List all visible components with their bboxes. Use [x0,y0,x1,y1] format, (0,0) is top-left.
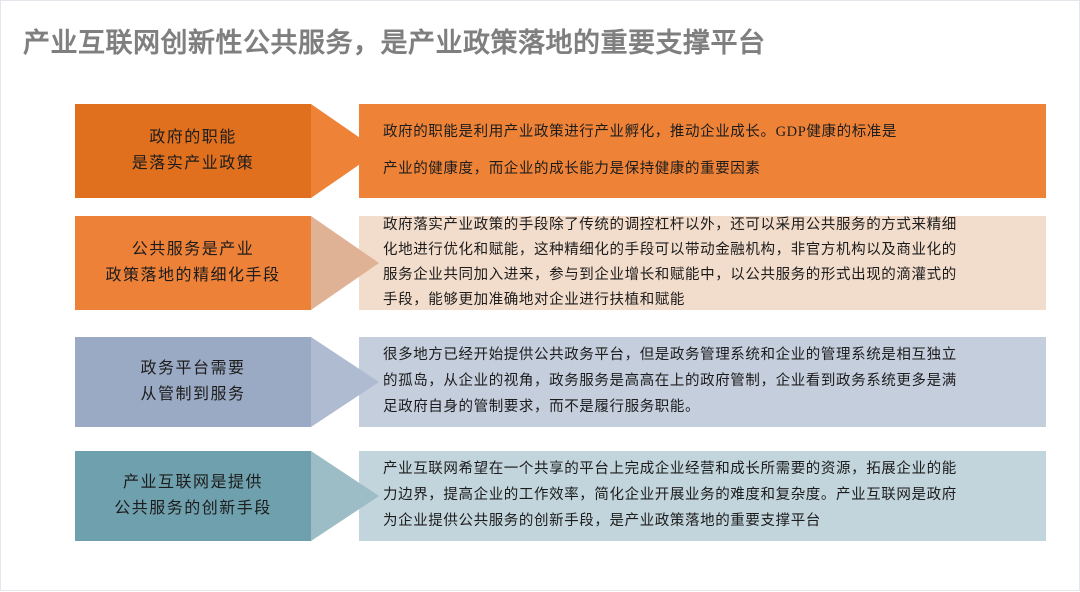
row-body-line: 手段，能够更加准确地对企业进行扶植和赋能 [383,288,1036,313]
arrow-right-icon [311,451,379,541]
row-body-line: 为企业提供公共服务的创新手段，是产业政策落地的重要支撑平台 [383,509,1036,535]
arrow-right-icon [311,216,379,310]
row-body-line: 政府落实产业政策的手段除了传统的调控杠杆以外，还可以采用公共服务的方式来精细 [383,213,1036,238]
row-label-line: 政府的职能 [149,125,237,151]
row-label-box[interactable]: 政务平台需要从管制到服务 [75,337,311,427]
row-label-line: 产业互联网是提供 [123,470,263,496]
row-label-box[interactable]: 公共服务是产业政策落地的精细化手段 [75,216,311,310]
slide-canvas: 产业互联网创新性公共服务，是产业政策落地的重要支撑平台 政府的职能是落实产业政策… [0,0,1080,591]
row-body-line: 产业互联网希望在一个共享的平台上完成企业经营和成长所需要的资源，拓展企业的能 [383,457,1036,483]
row-body-line: 政府的职能是利用产业政策进行产业孵化，推动企业成长。GDP健康的标准是 [383,114,1036,151]
process-row: 政府的职能是落实产业政策政府的职能是利用产业政策进行产业孵化，推动企业成长。GD… [75,104,1046,198]
process-row: 产业互联网是提供公共服务的创新手段产业互联网希望在一个共享的平台上完成企业经营和… [75,451,1046,541]
row-body-panel: 政府的职能是利用产业政策进行产业孵化，推动企业成长。GDP健康的标准是产业的健康… [359,104,1046,198]
row-body-panel: 很多地方已经开始提供公共政务平台，但是政务管理系统和企业的管理系统是相互独立的孤… [359,337,1046,427]
row-body-line: 的孤岛，从企业的视角，政务服务是高高在上的政府管制，企业看到政务系统更多是满 [383,369,1036,395]
process-row: 公共服务是产业政策落地的精细化手段政府落实产业政策的手段除了传统的调控杠杆以外，… [75,216,1046,310]
row-label-box[interactable]: 产业互联网是提供公共服务的创新手段 [75,451,311,541]
process-row: 政务平台需要从管制到服务很多地方已经开始提供公共政务平台，但是政务管理系统和企业… [75,337,1046,427]
row-body-line: 化地进行优化和赋能，这种精细化的手段可以带动金融机构，非官方机构以及商业化的 [383,238,1036,263]
row-body-panel: 政府落实产业政策的手段除了传统的调控杠杆以外，还可以采用公共服务的方式来精细化地… [359,216,1046,310]
arrow-right-icon [311,337,379,427]
row-body-line: 产业的健康度，而企业的成长能力是保持健康的重要因素 [383,151,1036,188]
row-label-line: 政策落地的精细化手段 [105,263,280,289]
row-label-box[interactable]: 政府的职能是落实产业政策 [75,104,311,198]
process-rows-container: 政府的职能是落实产业政策政府的职能是利用产业政策进行产业孵化，推动企业成长。GD… [1,1,1080,592]
row-body-panel: 产业互联网希望在一个共享的平台上完成企业经营和成长所需要的资源，拓展企业的能力边… [359,451,1046,541]
row-label-line: 公共服务的创新手段 [114,496,272,522]
row-label-line: 从管制到服务 [140,382,245,408]
row-body-line: 力边界，提高企业的工作效率，简化企业开展业务的难度和复杂度。产业互联网是政府 [383,483,1036,509]
row-label-line: 政务平台需要 [140,356,245,382]
row-body-line: 服务企业共同加入进来，参与到企业增长和赋能中，以公共服务的形式出现的滴灌式的 [383,263,1036,288]
row-label-line: 公共服务是产业 [132,237,255,263]
row-body-line: 足政府自身的管制要求，而不是履行服务职能。 [383,395,1036,421]
row-body-line: 很多地方已经开始提供公共政务平台，但是政务管理系统和企业的管理系统是相互独立 [383,343,1036,369]
row-label-line: 是落实产业政策 [132,151,255,177]
arrow-right-icon [311,104,379,198]
